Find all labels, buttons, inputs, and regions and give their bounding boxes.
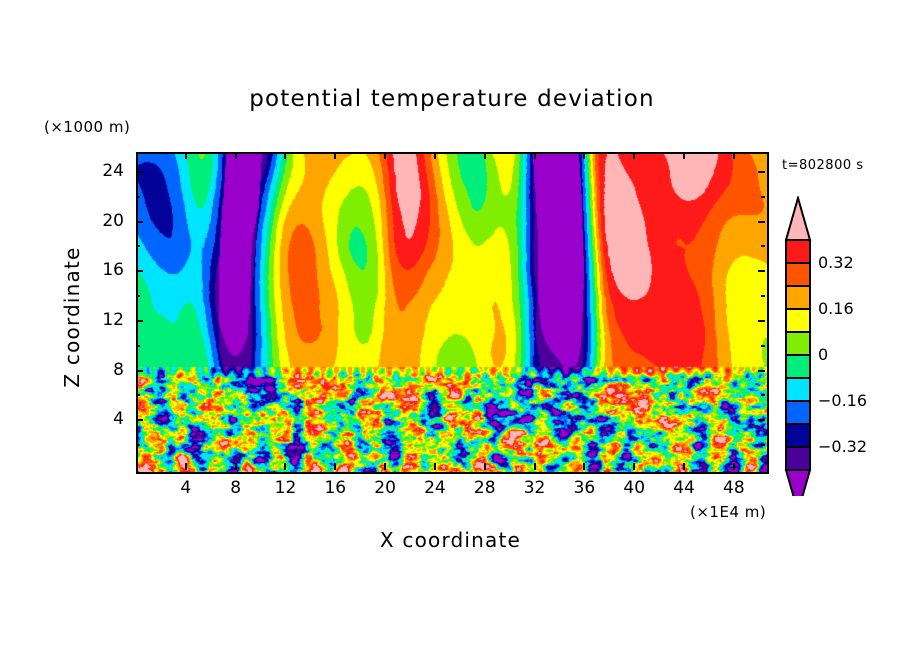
y-axis-tick-label: 24 — [64, 161, 124, 181]
x-axis-tick — [484, 463, 486, 470]
x-axis-tick — [235, 152, 237, 159]
colorbar-band — [786, 309, 810, 332]
colorbar-band — [786, 447, 810, 470]
colorbar-band — [786, 332, 810, 355]
x-axis-tick — [334, 463, 336, 470]
x-axis-tick — [434, 152, 436, 159]
colorbar-over-arrow — [786, 198, 810, 240]
y-axis-minor-tick — [761, 196, 765, 198]
y-axis-tick — [136, 419, 143, 421]
x-axis-tick — [733, 152, 735, 159]
x-axis-tick — [683, 463, 685, 470]
x-axis-tick — [633, 463, 635, 470]
x-axis-tick — [434, 463, 436, 470]
y-axis-minor-tick — [136, 196, 140, 198]
colorbar-band — [786, 355, 810, 378]
x-axis-tick — [534, 152, 536, 159]
y-axis-tick — [136, 270, 143, 272]
y-axis-tick — [758, 171, 765, 173]
colorbar-tick-label: −0.16 — [818, 391, 867, 410]
y-axis-tick-label: 16 — [64, 260, 124, 280]
colorbar-tick-label: 0.32 — [818, 253, 854, 272]
colorbar-tick-label: 0.16 — [818, 299, 854, 318]
x-axis-tick — [633, 152, 635, 159]
y-axis-tick — [136, 221, 143, 223]
timestamp-annotation: t=802800 s — [782, 158, 864, 173]
y-axis-tick — [136, 320, 143, 322]
colorbar-under-arrow — [786, 470, 810, 496]
page-title: potential temperature deviation — [0, 86, 904, 112]
colorbar: 0.320.160−0.16−0.32 — [782, 196, 902, 496]
x-axis-tick — [484, 152, 486, 159]
y-axis-tick — [758, 370, 765, 372]
colorbar-band — [786, 378, 810, 401]
x-axis-tick — [185, 463, 187, 470]
y-axis-tick — [136, 171, 143, 173]
contour-plot-area — [136, 152, 769, 474]
y-axis-minor-tick — [761, 295, 765, 297]
x-axis-tick — [683, 152, 685, 159]
y-axis-tick-label: 8 — [64, 360, 124, 380]
y-axis-tick-label: 4 — [64, 409, 124, 429]
x-axis-tick — [185, 152, 187, 159]
contour-field — [138, 154, 767, 472]
colorbar-band — [786, 401, 810, 424]
y-axis-tick — [758, 270, 765, 272]
colorbar-tick-label: −0.32 — [818, 437, 867, 456]
x-axis-tick — [334, 152, 336, 159]
y-axis-tick-label: 20 — [64, 211, 124, 231]
x-axis-tick — [583, 463, 585, 470]
x-axis-tick — [534, 463, 536, 470]
x-axis-tick — [384, 152, 386, 159]
x-axis-tick — [733, 463, 735, 470]
x-axis-tick-label: 48 — [704, 478, 764, 498]
y-axis-tick — [136, 370, 143, 372]
x-axis-tick — [583, 152, 585, 159]
x-axis-tick — [235, 463, 237, 470]
y-axis-unit-label: (×1000 m) — [44, 118, 130, 136]
y-axis-tick — [758, 419, 765, 421]
x-axis-title: X coordinate — [136, 528, 765, 552]
colorbar-tick-label: 0 — [818, 345, 828, 364]
colorbar-band — [786, 240, 810, 263]
figure-canvas: potential temperature deviation (×1000 m… — [0, 0, 904, 654]
y-axis-minor-tick — [136, 245, 140, 247]
y-axis-minor-tick — [761, 444, 765, 446]
y-axis-minor-tick — [136, 345, 140, 347]
y-axis-minor-tick — [136, 394, 140, 396]
x-axis-tick — [284, 152, 286, 159]
y-axis-minor-tick — [761, 345, 765, 347]
y-axis-tick — [758, 221, 765, 223]
colorbar-swatches — [782, 196, 822, 496]
x-axis-unit-label: (×1E4 m) — [690, 503, 766, 521]
y-axis-tick — [758, 320, 765, 322]
colorbar-band — [786, 424, 810, 447]
y-axis-minor-tick — [761, 394, 765, 396]
x-axis-tick — [284, 463, 286, 470]
y-axis-tick-label: 12 — [64, 310, 124, 330]
colorbar-band — [786, 263, 810, 286]
y-axis-minor-tick — [136, 295, 140, 297]
colorbar-band — [786, 286, 810, 309]
x-axis-tick — [384, 463, 386, 470]
y-axis-minor-tick — [136, 444, 140, 446]
y-axis-minor-tick — [761, 245, 765, 247]
